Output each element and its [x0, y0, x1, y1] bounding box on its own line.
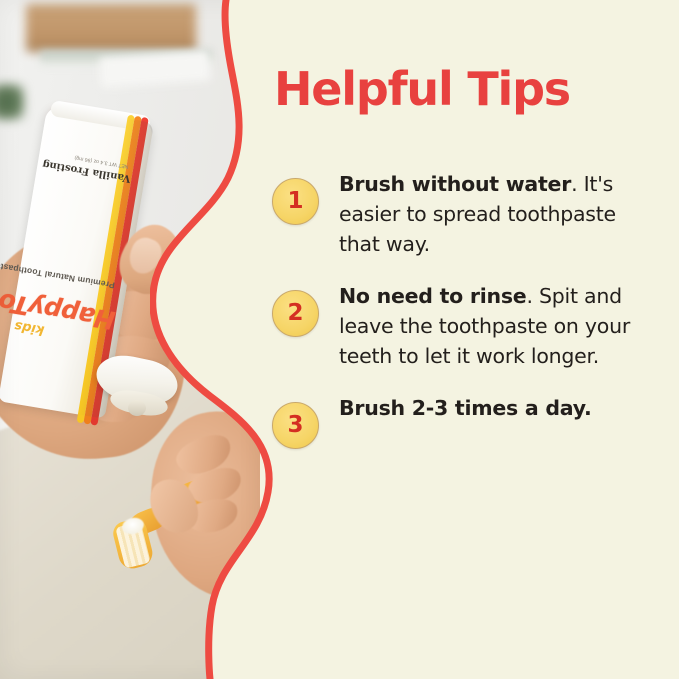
tip-lead-3: Brush 2-3 times a day.: [339, 396, 591, 420]
tip-lead-2: No need to rinse: [339, 284, 526, 308]
tip-item-2: 2 No need to rinse. Spit and leave the t…: [255, 282, 679, 372]
tip-badge-2: 2: [272, 290, 319, 337]
tip-text-1: Brush without water. It's easier to spre…: [339, 170, 679, 260]
tip-text-2: No need to rinse. Spit and leave the too…: [339, 282, 679, 372]
tips-panel: Helpful Tips 1 Brush without water. It's…: [255, 0, 679, 679]
tube-nozzle: [128, 400, 146, 416]
tip-badge-3: 3: [272, 402, 319, 449]
tips-list: 1 Brush without water. It's easier to sp…: [255, 170, 679, 471]
tip-item-3: 3 Brush 2-3 times a day.: [255, 394, 679, 449]
tip-lead-1: Brush without water: [339, 172, 571, 196]
tip-text-3: Brush 2-3 times a day.: [339, 394, 679, 424]
tip-item-1: 1 Brush without water. It's easier to sp…: [255, 170, 679, 260]
page-title: Helpful Tips: [274, 66, 570, 112]
tip-badge-1: 1: [272, 178, 319, 225]
background-plant: [0, 84, 24, 120]
infographic-canvas: HappyTooth kids Premium Natural Toothpas…: [0, 0, 679, 679]
product-photo: HappyTooth kids Premium Natural Toothpas…: [0, 0, 260, 679]
background-shelf: [26, 4, 196, 52]
